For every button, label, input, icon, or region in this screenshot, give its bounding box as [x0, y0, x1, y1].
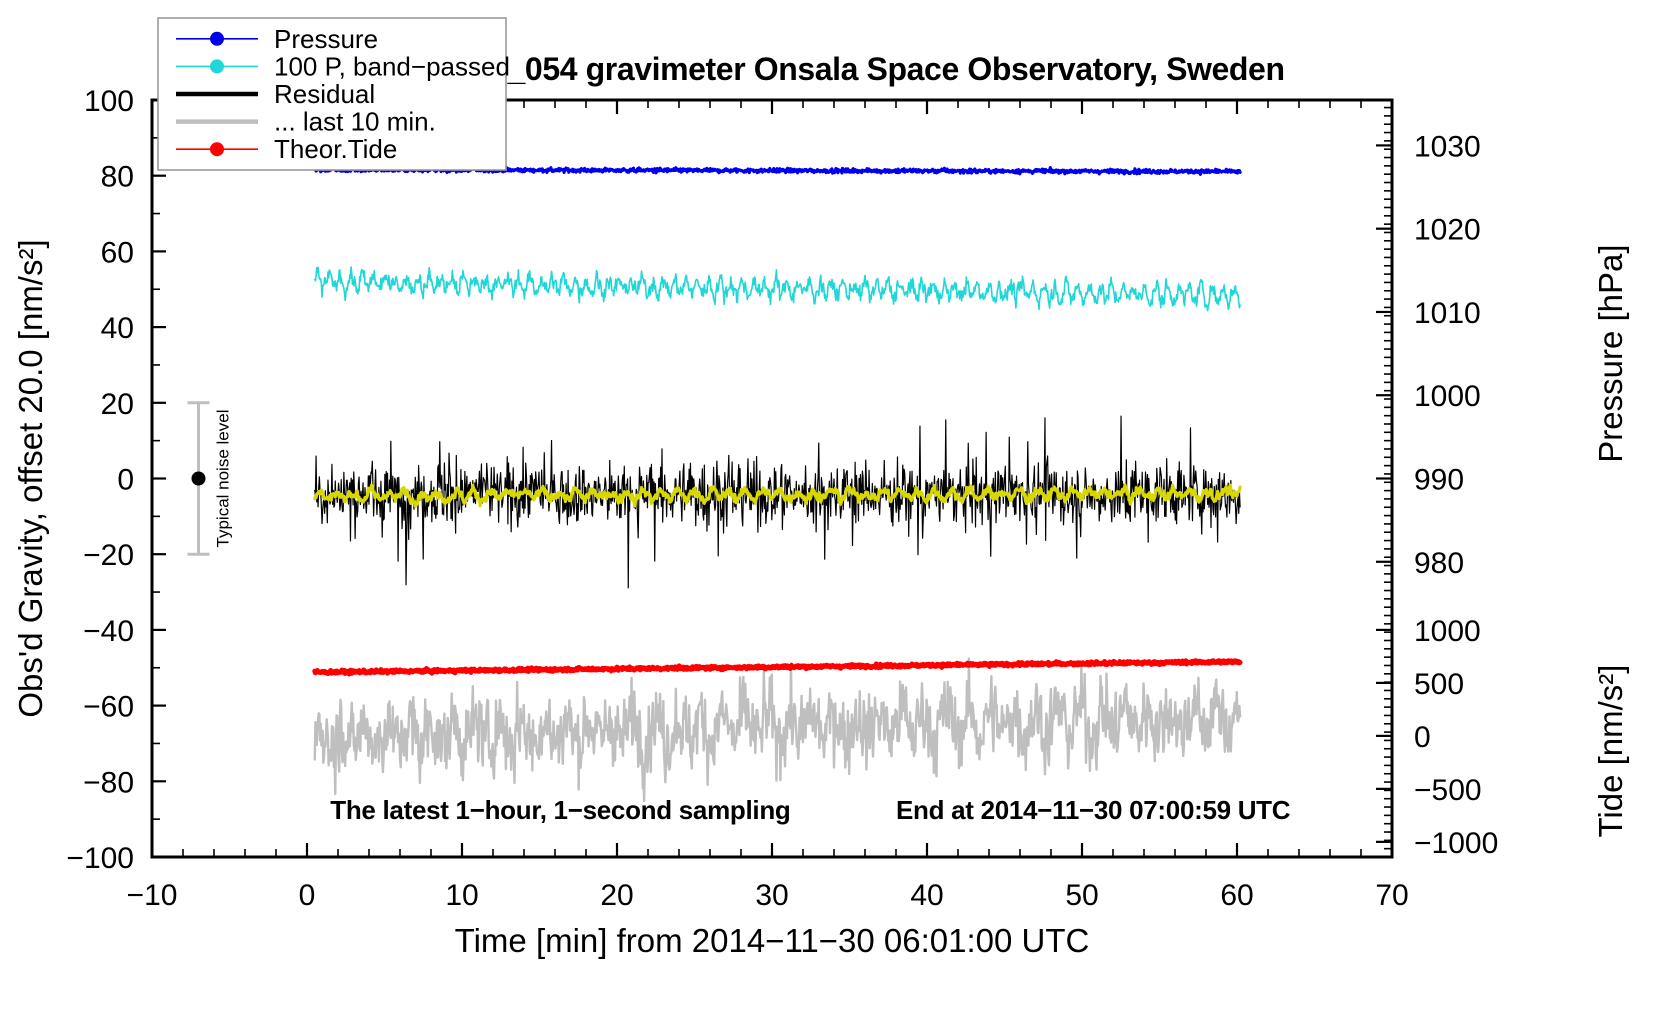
- y-tick-label: −80: [83, 766, 134, 799]
- legend-swatch-dot: [210, 32, 224, 46]
- legend-item-label: Pressure: [274, 24, 378, 54]
- legend-item-label: Theor.Tide: [274, 134, 397, 164]
- y-tick-label: 80: [101, 161, 134, 194]
- pressure-tick-label: 1020: [1414, 214, 1481, 247]
- pressure-tick-label: 1030: [1414, 130, 1481, 163]
- annotation-bottom-right-note: End at 2014−11−30 07:00:59 UTC: [896, 795, 1291, 825]
- tide-tick-label: −1000: [1414, 827, 1498, 860]
- y-tick-label: −20: [83, 539, 134, 572]
- pressure-tick-label: 1010: [1414, 297, 1481, 330]
- y-axis-title: Obs'd Gravity, offset 20.0 [nm/s²]: [12, 239, 49, 717]
- y-tick-label: 0: [117, 464, 134, 497]
- annotation-bottom-left-note: The latest 1−hour, 1−second sampling: [330, 795, 790, 825]
- noise-center-dot: [192, 472, 206, 486]
- x-tick-label: 0: [299, 879, 316, 912]
- y-tick-label: −100: [66, 842, 134, 875]
- legend-item-label: 100 P, band−passed: [274, 51, 510, 81]
- legend-item-label: ... last 10 min.: [274, 107, 436, 137]
- pressure-tick-label: 990: [1414, 464, 1464, 497]
- x-tick-label: 60: [1220, 879, 1253, 912]
- legend-item-label: Residual: [274, 79, 375, 109]
- pressure-tick-label: 980: [1414, 547, 1464, 580]
- y-tick-label: −40: [83, 615, 134, 648]
- pressure-tick-label: 1000: [1414, 380, 1481, 413]
- tide-tick-label: 0: [1414, 721, 1431, 754]
- y-tick-label: 20: [101, 388, 134, 421]
- tide-tick-label: 1000: [1414, 615, 1481, 648]
- noise-level-label: Typical noise level: [214, 410, 233, 548]
- x-tick-label: −10: [127, 879, 178, 912]
- gravimeter-timeseries-plot: Typical noise level−10010203040506070100…: [0, 0, 1660, 1020]
- legend-swatch-dot: [210, 59, 224, 73]
- plot-title: SCG_054 gravimeter Onsala Space Observat…: [439, 51, 1284, 87]
- x-axis-title: Time [min] from 2014−11−30 06:01:00 UTC: [455, 922, 1090, 959]
- x-tick-label: 20: [600, 879, 633, 912]
- tide-tick-label: −500: [1414, 774, 1482, 807]
- legend-swatch-dot: [210, 142, 224, 156]
- y-tick-label: 100: [84, 85, 134, 118]
- y-tick-label: 40: [101, 312, 134, 345]
- x-tick-label: 70: [1375, 879, 1408, 912]
- y-tick-label: −60: [83, 691, 134, 724]
- pressure-axis-title: Pressure [hPa]: [1592, 244, 1629, 462]
- x-tick-label: 40: [910, 879, 943, 912]
- x-tick-label: 50: [1065, 879, 1098, 912]
- chart-canvas: Typical noise level−10010203040506070100…: [0, 0, 1660, 1020]
- tide-tick-label: 500: [1414, 668, 1464, 701]
- x-tick-label: 30: [755, 879, 788, 912]
- tide-axis-title: Tide [nm/s²]: [1592, 665, 1629, 838]
- y-tick-label: 60: [101, 236, 134, 269]
- x-tick-label: 10: [445, 879, 478, 912]
